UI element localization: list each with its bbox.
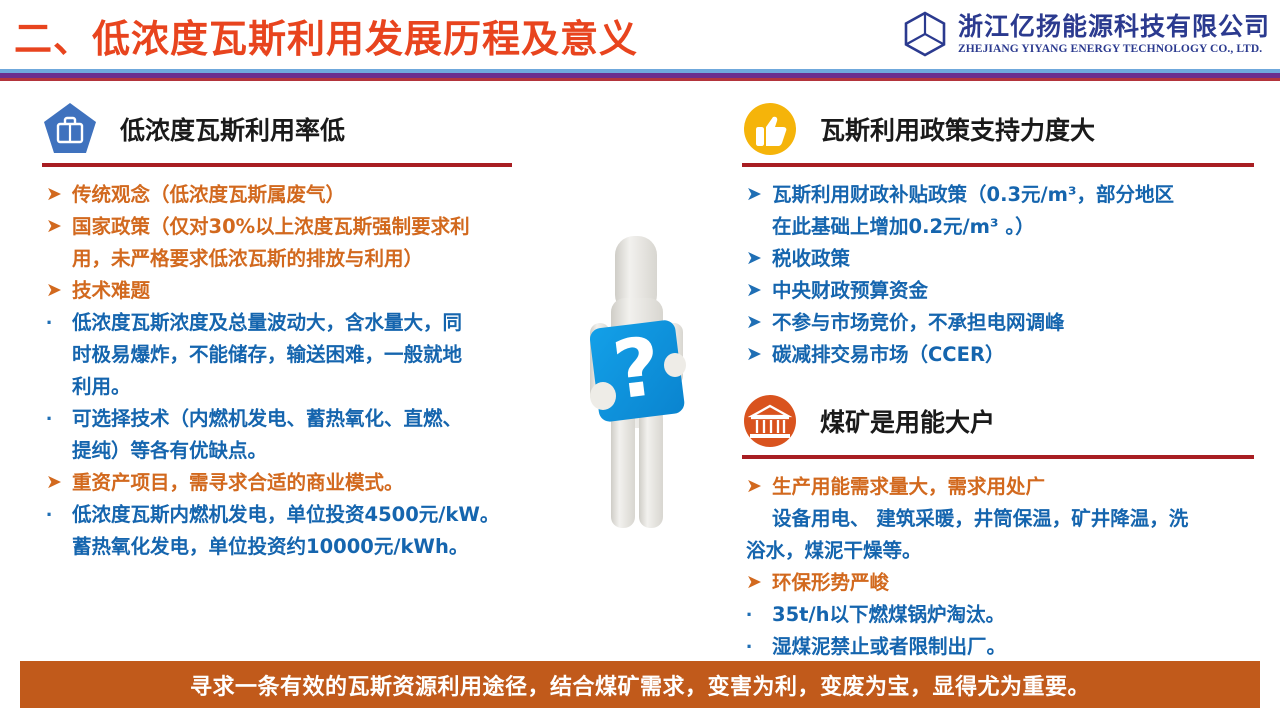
list-item: ·35t/h以下燃煤锅炉淘汰。 [742,600,1254,630]
arrow-bullet-icon: ➤ [742,180,772,210]
list-item: ·利用。 [42,372,562,402]
list-item: ➤碳减排交易市场（CCER） [742,340,1254,370]
list-item-text: 国家政策（仅对30%以上浓度瓦斯强制要求利 [72,212,470,242]
dot-bullet-icon: · [742,632,772,662]
list-item: ·时极易爆炸，不能储存，输送困难，一般就地 [42,340,562,370]
list-item-text: 35t/h以下燃煤锅炉淘汰。 [772,600,1005,630]
list-item: ➤用，未严格要求低浓瓦斯的排放与利用） [42,244,562,274]
left-column: 低浓度瓦斯利用率低 ➤传统观念（低浓度瓦斯属废气） ➤国家政策（仅对30%以上浓… [42,100,562,564]
dot-bullet-icon: · [42,308,72,338]
bank-building-circle-icon [742,393,798,449]
arrow-bullet-icon: ➤ [42,468,72,498]
bullet-spacer: · [42,436,72,466]
list-item-text: 重资产项目，需寻求合适的商业模式。 [72,468,404,498]
slide: 二、低浓度瓦斯利用发展历程及意义 浙江亿扬能源科技有限公司 ZHEJIANG Y… [0,0,1280,720]
footer-banner: 寻求一条有效的瓦斯资源利用途径，结合煤矿需求，变害为利，变废为宝，显得尤为重要。 [20,661,1260,708]
list-item: ➤在此基础上增加0.2元/m³ 。） [742,212,1254,242]
bullet-spacer: · [42,340,72,370]
list-item: ·低浓度瓦斯内燃机发电，单位投资4500元/kW。 [42,500,562,530]
list-item: ·可选择技术（内燃机发电、蓄热氧化、直燃、 [42,404,562,434]
list-item-text: 浴水，煤泥干燥等。 [746,536,922,566]
policy-bullet-list: ➤瓦斯利用财政补贴政策（0.3元/m³，部分地区 ➤在此基础上增加0.2元/m³… [742,180,1254,370]
section-title-policy-support: 瓦斯利用政策支持力度大 [820,111,1095,147]
list-item-text: 瓦斯利用财政补贴政策（0.3元/m³，部分地区 [772,180,1174,210]
left-bullet-list: ➤传统观念（低浓度瓦斯属废气） ➤国家政策（仅对30%以上浓度瓦斯强制要求利 ➤… [42,180,562,562]
arrow-bullet-icon: ➤ [742,472,772,502]
section-header-policy-support: 瓦斯利用政策支持力度大 [742,100,1254,158]
list-item-text: 可选择技术（内燃机发电、蓄热氧化、直燃、 [72,404,462,434]
arrow-bullet-icon: ➤ [742,244,772,274]
section-title-low-utilization: 低浓度瓦斯利用率低 [120,111,345,147]
right-column: 瓦斯利用政策支持力度大 ➤瓦斯利用财政补贴政策（0.3元/m³，部分地区 ➤在此… [742,100,1254,664]
list-item: ·设备用电、 建筑采暖，井筒保温，矿井降温，洗 [742,504,1254,534]
arrow-bullet-icon: ➤ [742,568,772,598]
list-item-text: 提纯）等各有优缺点。 [72,436,267,466]
list-item: ➤国家政策（仅对30%以上浓度瓦斯强制要求利 [42,212,562,242]
bullet-spacer: · [742,504,772,534]
list-item-text: 低浓度瓦斯内燃机发电，单位投资4500元/kW。 [72,500,499,530]
list-item: ➤瓦斯利用财政补贴政策（0.3元/m³，部分地区 [742,180,1254,210]
section-header-coal-mine-energy: 煤矿是用能大户 [742,392,1254,450]
thumbs-up-circle-icon [742,101,798,157]
divider-stripe-red [0,78,1280,81]
list-item-text: 时极易爆炸，不能储存，输送困难，一般就地 [72,340,462,370]
list-item: ➤传统观念（低浓度瓦斯属废气） [42,180,562,210]
logo-company-name-cn: 浙江亿扬能源科技有限公司 [958,13,1270,41]
section-rule-policy [742,163,1254,167]
section-header-low-utilization: 低浓度瓦斯利用率低 [42,100,562,158]
list-item-text: 技术难题 [72,276,150,306]
hexagon-cube-icon [902,10,948,58]
section-rule-left [42,163,512,167]
company-logo: 浙江亿扬能源科技有限公司 ZHEJIANG YIYANG ENERGY TECH… [902,10,1270,58]
list-item-text: 在此基础上增加0.2元/m³ 。） [772,212,1035,242]
person-holding-question-sign-illustration: ? [565,228,710,538]
bullet-spacer: · [42,372,72,402]
arrow-bullet-icon: ➤ [742,276,772,306]
list-item-text: 蓄热氧化发电，单位投资约10000元/kWh。 [72,532,468,562]
arrow-bullet-icon: ➤ [742,340,772,370]
footer-banner-text: 寻求一条有效的瓦斯资源利用途径，结合煤矿需求，变害为利，变废为宝，显得尤为重要。 [190,669,1090,701]
bullet-spacer: ➤ [742,212,772,242]
list-item: ➤税收政策 [742,244,1254,274]
list-item: ·湿煤泥禁止或者限制出厂。 [742,632,1254,662]
arrow-bullet-icon: ➤ [42,276,72,306]
bullet-spacer: · [42,532,72,562]
list-item-text: 生产用能需求量大，需求用处广 [772,472,1045,502]
list-item: ➤中央财政预算资金 [742,276,1254,306]
list-item: ➤生产用能需求量大，需求用处广 [742,472,1254,502]
list-item-text: 不参与市场竞价，不承担电网调峰 [772,308,1065,338]
list-item-text: 税收政策 [772,244,850,274]
list-item: 浴水，煤泥干燥等。 [742,536,1254,566]
list-item-text: 湿煤泥禁止或者限制出厂。 [772,632,1006,662]
bullet-spacer: ➤ [42,244,72,274]
list-item-text: 用，未严格要求低浓瓦斯的排放与利用） [72,244,423,274]
list-item-text: 利用。 [72,372,131,402]
header-divider [0,69,1280,81]
arrow-bullet-icon: ➤ [42,180,72,210]
arrow-bullet-icon: ➤ [42,212,72,242]
list-item: ➤环保形势严峻 [742,568,1254,598]
list-item: ·低浓度瓦斯浓度及总量波动大，含水量大，同 [42,308,562,338]
logo-company-name-en: ZHEJIANG YIYANG ENERGY TECHNOLOGY CO., L… [958,43,1270,55]
list-item-text: 碳减排交易市场（CCER） [772,340,1004,370]
list-item-text: 设备用电、 建筑采暖，井筒保温，矿井降温，洗 [772,504,1188,534]
list-item: ➤重资产项目，需寻求合适的商业模式。 [42,468,562,498]
list-item-text: 低浓度瓦斯浓度及总量波动大，含水量大，同 [72,308,462,338]
briefcase-pentagon-icon [42,101,98,157]
list-item-text: 中央财政预算资金 [772,276,928,306]
section-title-coal-mine-energy: 煤矿是用能大户 [820,403,995,439]
section-rule-coal-mine [742,455,1254,459]
dot-bullet-icon: · [42,500,72,530]
list-item: ·蓄热氧化发电，单位投资约10000元/kWh。 [42,532,562,562]
arrow-bullet-icon: ➤ [742,308,772,338]
page-title: 二、低浓度瓦斯利用发展历程及意义 [14,8,638,63]
list-item: ➤技术难题 [42,276,562,306]
dot-bullet-icon: · [742,600,772,630]
dot-bullet-icon: · [42,404,72,434]
list-item: ·提纯）等各有优缺点。 [42,436,562,466]
list-item: ➤不参与市场竞价，不承担电网调峰 [742,308,1254,338]
slide-header: 二、低浓度瓦斯利用发展历程及意义 浙江亿扬能源科技有限公司 ZHEJIANG Y… [0,0,1280,70]
list-item-text: 传统观念（低浓度瓦斯属废气） [72,180,345,210]
list-item-text: 环保形势严峻 [772,568,889,598]
coal-mine-bullet-list: ➤生产用能需求量大，需求用处广 ·设备用电、 建筑采暖，井筒保温，矿井降温，洗 … [742,472,1254,662]
